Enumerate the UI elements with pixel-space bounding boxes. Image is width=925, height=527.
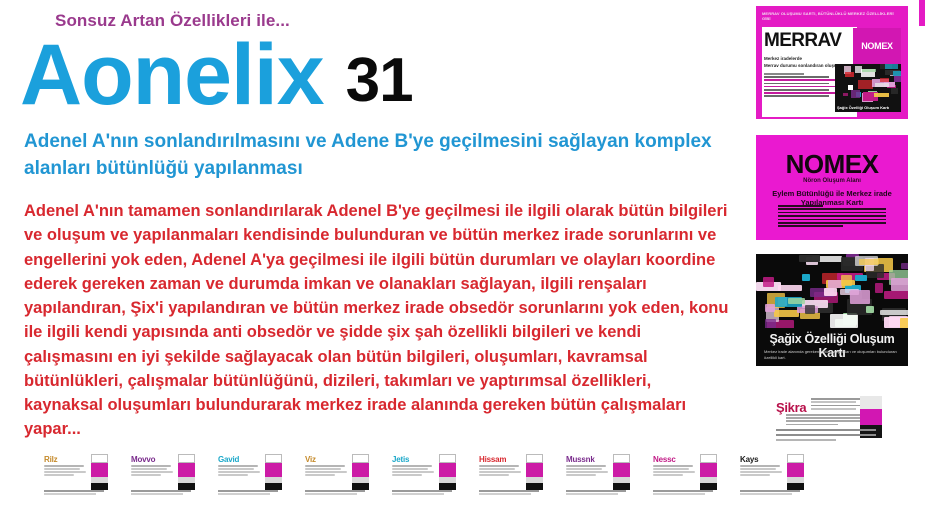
- card-sikra-body-lines: [786, 414, 860, 427]
- collage-tile: [893, 71, 901, 77]
- thumbnail-lines: [44, 465, 88, 477]
- card-sikra-head-lines: [811, 398, 863, 412]
- thumbnail-label: Gavid: [218, 455, 239, 464]
- collage-tile: [885, 64, 898, 69]
- collage-tile: [830, 314, 859, 328]
- card-merrav[interactable]: MERRAV OLUŞUMU SARTI, BÜTÜNLÜKLÜ MERKEZ …: [756, 6, 908, 119]
- slide-root: Sonsuz Artan Özellikleri ile... Aonelix …: [0, 0, 925, 527]
- card-nomex-title: NOMEX: [756, 149, 908, 180]
- collage-tile: [845, 72, 854, 76]
- collage-tile: [850, 290, 871, 304]
- thumbnail-chip: [439, 454, 456, 490]
- card-sagix-karti[interactable]: Şağix Özelliği Oluşum Kartı Merkez irade…: [756, 254, 908, 366]
- thumbnail-strip: RilzMovvoGavidVizJetisHissamMussnkNesscK…: [42, 452, 806, 496]
- collage-tile: [851, 90, 860, 98]
- thumbnail-footer-lines: [218, 490, 280, 496]
- thumbnail-card[interactable]: Rilz: [42, 452, 110, 496]
- collage-tile: [875, 283, 883, 292]
- card-nomex[interactable]: NOMEX Nöron Oluşum Alanı Eylem Bütünlüğü…: [756, 135, 908, 240]
- card-merrav-nomex-inset: NOMEX: [853, 28, 901, 64]
- collage-tile: [880, 78, 889, 81]
- edge-mark-decoration: [919, 0, 925, 26]
- collage-tile: [884, 291, 908, 299]
- thumbnail-chip: [700, 454, 717, 490]
- collage-tile: [855, 275, 868, 281]
- collage-tile: [858, 80, 873, 90]
- thumbnail-footer-lines: [479, 490, 541, 496]
- thumbnail-lines: [479, 465, 523, 477]
- card-merrav-collage-label: Şağix Özelliği Oluşum Kartı: [837, 105, 899, 110]
- thumbnail-chip: [526, 454, 543, 490]
- thumbnail-card[interactable]: Movvo: [129, 452, 197, 496]
- thumbnail-card[interactable]: Hissam: [477, 452, 545, 496]
- card-nomex-text-lines: [778, 205, 886, 229]
- thumbnail-label: Nessc: [653, 455, 676, 464]
- collage-tile: [765, 319, 776, 328]
- version-number: 31: [346, 50, 413, 112]
- collage-tile: [774, 310, 799, 317]
- sidebar-cards: MERRAV OLUŞUMU SARTI, BÜTÜNLÜKLÜ MERKEZ …: [752, 0, 925, 527]
- body-paragraph: Adenel A'nın tamamen sonlandırılarak Ade…: [24, 199, 730, 442]
- collage-tile: [828, 280, 842, 287]
- card-nomex-sub1: Nöron Oluşum Alanı: [756, 178, 908, 184]
- thumbnail-chip: [352, 454, 369, 490]
- thumbnail-label: Rilz: [44, 455, 57, 464]
- thumbnail-lines: [392, 465, 436, 477]
- thumbnail-label: Movvo: [131, 455, 155, 464]
- thumbnail-chip: [178, 454, 195, 490]
- collage-tile: [824, 288, 837, 297]
- collage-tile: [805, 305, 815, 314]
- card-merrav-title: MERRAV: [764, 30, 841, 52]
- thumbnail-chip: [613, 454, 630, 490]
- thumbnail-lines: [653, 465, 697, 477]
- thumbnail-lines: [218, 465, 262, 477]
- thumbnail-label: Mussnk: [566, 455, 595, 464]
- collage-tile: [874, 93, 890, 97]
- card-sagix-collage-grid: [756, 254, 908, 328]
- thumbnail-footer-lines: [566, 490, 628, 496]
- collage-tile: [862, 69, 876, 72]
- collage-tile: [880, 310, 908, 315]
- card-sikra[interactable]: Şikra: [764, 382, 894, 454]
- collage-tile: [799, 255, 821, 263]
- thumbnail-footer-lines: [44, 490, 106, 496]
- content-column: Sonsuz Artan Özellikleri ile... Aonelix …: [0, 0, 752, 527]
- collage-tile: [891, 88, 898, 94]
- collage-tile: [788, 298, 805, 303]
- card-merrav-text-lines: [764, 73, 836, 99]
- collage-tile: [901, 263, 908, 269]
- thumbnail-chip: [265, 454, 282, 490]
- thumbnail-lines: [131, 465, 175, 477]
- thumbnail-footer-lines: [392, 490, 454, 496]
- thumbnail-card[interactable]: Mussnk: [564, 452, 632, 496]
- card-merrav-sub1: Merkez iradelerde: [764, 55, 852, 62]
- thumbnail-lines: [566, 465, 610, 477]
- collage-tile: [763, 277, 773, 288]
- thumbnail-footer-lines: [305, 490, 367, 496]
- thumbnail-footer-lines: [653, 490, 715, 496]
- brand-title: Aonelix: [20, 36, 324, 115]
- thumbnail-card[interactable]: Jetis: [390, 452, 458, 496]
- thumbnail-label: Hissam: [479, 455, 506, 464]
- thumbnail-chip: [91, 454, 108, 490]
- thumbnail-label: Jetis: [392, 455, 409, 464]
- card-sikra-title: Şikra: [776, 400, 806, 415]
- thumbnail-footer-lines: [131, 490, 193, 496]
- card-merrav-collage: Şağix Özelliği Oluşum Kartı: [835, 64, 901, 112]
- collage-tile: [841, 275, 853, 287]
- card-sikra-rules: [776, 429, 876, 444]
- collage-tile: [843, 93, 849, 96]
- collage-tile: [900, 318, 908, 328]
- thumbnail-lines: [305, 465, 349, 477]
- card-merrav-nomex-label: NOMEX: [861, 41, 893, 51]
- card-merrav-banner: MERRAV OLUŞUMU SARTI, BÜTÜNLÜKLÜ MERKEZ …: [762, 11, 902, 25]
- subtitle-text: Adenel A'nın sonlandırılmasını ve Adene …: [24, 129, 724, 183]
- collage-tile: [859, 259, 879, 264]
- title-row: Aonelix 31: [20, 36, 413, 115]
- collage-tile: [802, 274, 810, 281]
- collage-tile: [891, 278, 908, 292]
- thumbnail-card[interactable]: Viz: [303, 452, 371, 496]
- card-sagix-subtitle: Merkez irade alanında gereken bütün çalı…: [764, 349, 900, 361]
- collage-tile: [765, 304, 775, 311]
- collage-tile: [778, 285, 802, 291]
- thumbnail-card[interactable]: Gavid: [216, 452, 284, 496]
- thumbnail-card[interactable]: Nessc: [651, 452, 719, 496]
- collage-tile: [866, 306, 874, 313]
- collage-tile: [875, 83, 889, 87]
- thumbnail-label: Viz: [305, 455, 316, 464]
